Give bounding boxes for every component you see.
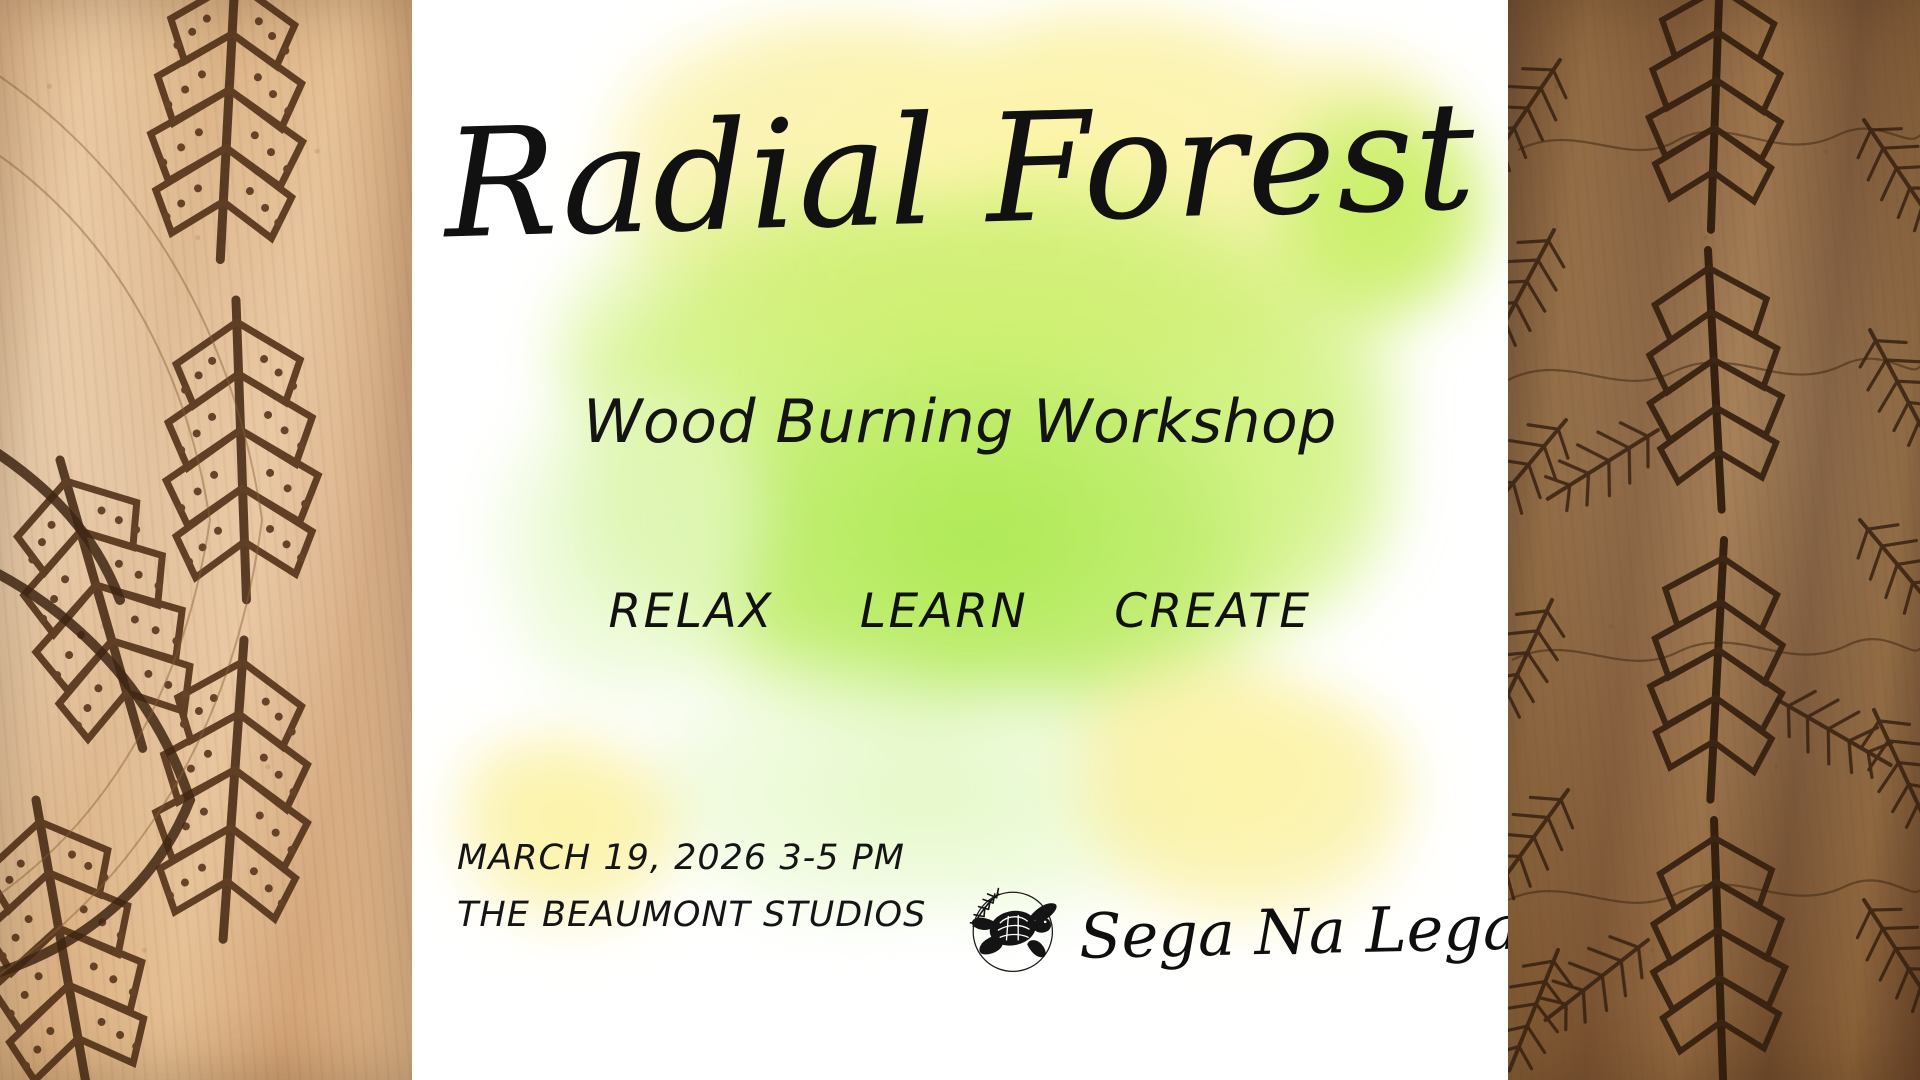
center-card: Radial Forest Wood Burning Workshop RELA… xyxy=(412,0,1508,1080)
turtle-icon xyxy=(957,876,1065,984)
keyword-learn: LEARN xyxy=(860,584,1028,639)
poster-canvas: Radial Forest Wood Burning Workshop RELA… xyxy=(0,0,1920,1080)
keyword-row: RELAX LEARN CREATE xyxy=(412,584,1508,639)
wood-burned-fern-texture-icon xyxy=(1508,0,1920,1080)
left-wood-panel xyxy=(0,0,412,1080)
event-date-time: MARCH 19, 2026 3-5 PM xyxy=(457,830,926,887)
page-title: Radial Forest xyxy=(412,81,1508,262)
brand-name: Sega Na Lega Crafts xyxy=(1078,892,1508,968)
wood-burned-leaf-texture-icon xyxy=(0,0,412,1080)
subtitle: Wood Burning Workshop xyxy=(412,392,1508,452)
event-venue: THE BEAUMONT STUDIOS xyxy=(457,887,926,944)
right-wood-panel xyxy=(1508,0,1920,1080)
brand-lockup: Sega Na Lega Crafts xyxy=(957,876,1508,984)
keyword-create: CREATE xyxy=(1114,584,1311,639)
event-details: MARCH 19, 2026 3-5 PM THE BEAUMONT STUDI… xyxy=(457,830,926,943)
keyword-relax: RELAX xyxy=(608,584,773,639)
